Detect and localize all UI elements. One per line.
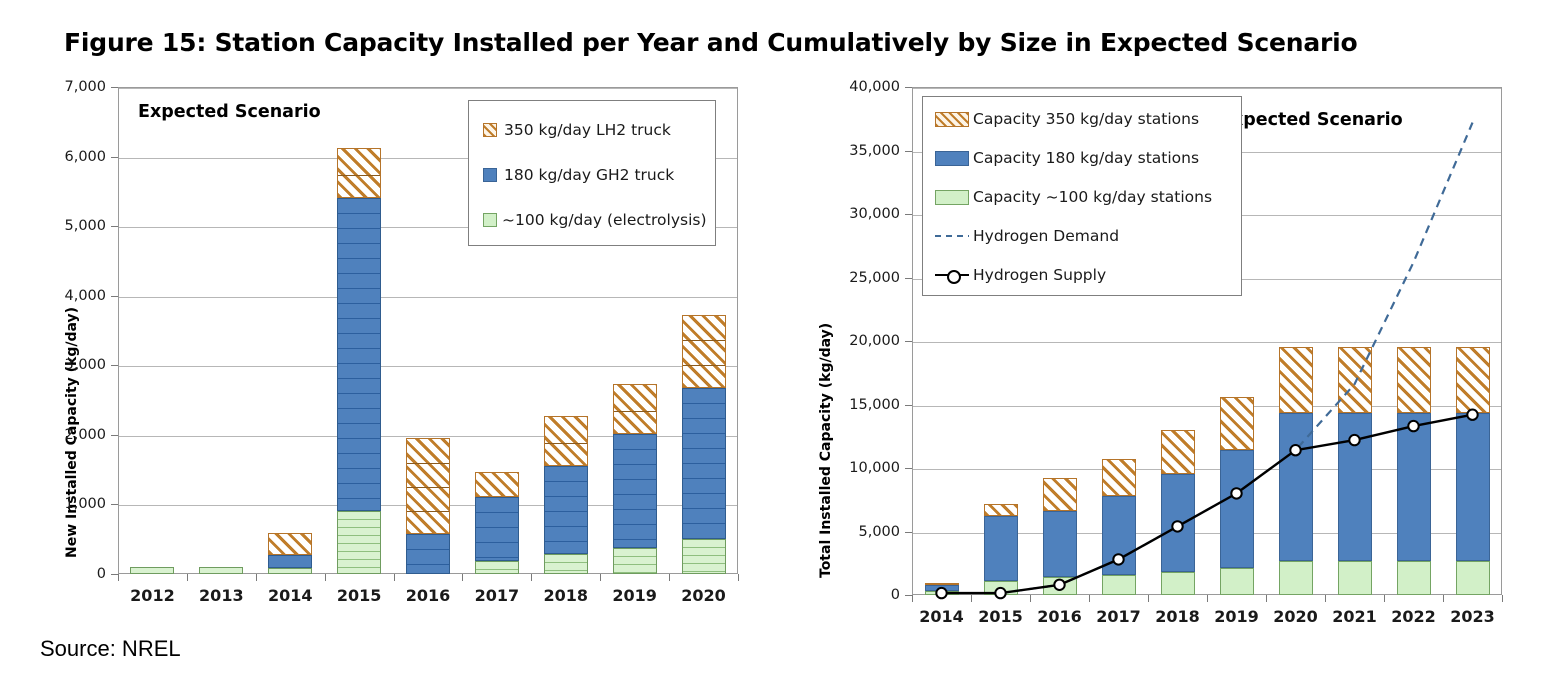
bar-segment — [544, 416, 588, 466]
x-tick-mark — [118, 574, 119, 581]
x-tick-label: 2023 — [1443, 607, 1502, 626]
bar-segment — [1397, 413, 1431, 562]
bar-segment — [1043, 478, 1077, 511]
y-tick-label: 7,000 — [28, 79, 106, 95]
bar-segment — [1338, 561, 1372, 595]
bar-segment — [1456, 561, 1490, 595]
bar-segment — [682, 315, 726, 388]
x-tick-label: 2016 — [1030, 607, 1089, 626]
legend-item-1[interactable]: Capacity 180 kg/day stations — [935, 149, 1199, 167]
x-tick-mark — [256, 574, 257, 581]
bar-segment — [1338, 347, 1372, 412]
y-tick-mark — [905, 278, 912, 279]
y-tick-label: 15,000 — [822, 397, 900, 413]
bar-segment — [406, 438, 450, 535]
bar-segment — [1161, 572, 1195, 595]
x-tick-label: 2015 — [325, 586, 394, 605]
legend-label: 180 kg/day GH2 truck — [504, 166, 674, 184]
legend-label: ~100 kg/day (electrolysis) — [502, 211, 707, 229]
gridline — [119, 297, 737, 298]
legend-item-2[interactable]: ~100 kg/day (electrolysis) — [483, 211, 707, 229]
bar-segment — [268, 568, 312, 574]
y-tick-label: 5,000 — [28, 218, 106, 234]
x-tick-mark — [1443, 595, 1444, 602]
gridline — [119, 366, 737, 367]
y-tick-mark — [111, 504, 118, 505]
x-tick-label: 2019 — [1207, 607, 1266, 626]
y-tick-mark — [905, 532, 912, 533]
legend-label: Capacity ~100 kg/day stations — [973, 188, 1212, 206]
legend-item-2[interactable]: Capacity ~100 kg/day stations — [935, 188, 1212, 206]
x-tick-mark — [1089, 595, 1090, 602]
y-tick-mark — [111, 435, 118, 436]
green-swatch — [483, 213, 497, 227]
y-tick-label: 20,000 — [822, 333, 900, 349]
bar-segment — [475, 561, 519, 574]
bar-segment — [1161, 430, 1195, 474]
y-tick-mark — [905, 595, 912, 596]
x-tick-mark — [971, 595, 972, 602]
legend-label: Hydrogen Demand — [973, 227, 1119, 245]
y-tick-label: 35,000 — [822, 143, 900, 159]
y-tick-label: 2,000 — [28, 427, 106, 443]
right-scenario-label: Expected Scenario — [1220, 110, 1403, 130]
bar-segment — [1338, 413, 1372, 562]
y-tick-label: 1,000 — [28, 496, 106, 512]
source-note: Source: NREL — [40, 636, 181, 662]
y-tick-label: 6,000 — [28, 149, 106, 165]
x-tick-label: 2018 — [531, 586, 600, 605]
x-tick-label: 2014 — [912, 607, 971, 626]
left-chart-panel: New Installed Capacity (kg/day) Expected… — [0, 78, 760, 608]
legend-label: Capacity 350 kg/day stations — [973, 110, 1199, 128]
legend-label: 350 kg/day LH2 truck — [504, 121, 671, 139]
x-tick-mark — [1384, 595, 1385, 602]
x-tick-mark — [325, 574, 326, 581]
bar-segment — [337, 198, 381, 511]
blue-swatch — [483, 168, 497, 182]
y-tick-mark — [905, 468, 912, 469]
bar-segment — [613, 434, 657, 548]
x-tick-label: 2022 — [1384, 607, 1443, 626]
x-tick-mark — [738, 574, 739, 581]
bar-segment — [1102, 459, 1136, 496]
x-tick-label: 2015 — [971, 607, 1030, 626]
x-tick-label: 2020 — [1266, 607, 1325, 626]
x-tick-mark — [187, 574, 188, 581]
bar-segment — [337, 511, 381, 574]
figure-title: Figure 15: Station Capacity Installed pe… — [64, 28, 1484, 57]
left-legend: 350 kg/day LH2 truck 180 kg/day GH2 truc… — [468, 100, 716, 246]
bar-segment — [199, 567, 243, 574]
bar-segment — [613, 548, 657, 574]
x-tick-label: 2017 — [462, 586, 531, 605]
orange-hatch-swatch — [483, 123, 497, 137]
bar-segment — [544, 554, 588, 574]
bar-segment — [1220, 397, 1254, 450]
right-y-axis-title: Total Installed Capacity (kg/day) — [818, 323, 834, 578]
x-tick-mark — [1266, 595, 1267, 602]
bar-segment — [1456, 347, 1490, 412]
right-legend: Capacity 350 kg/day stations Capacity 18… — [922, 96, 1242, 296]
x-tick-mark — [1207, 595, 1208, 602]
bar-segment — [1397, 561, 1431, 595]
bar-segment — [1279, 413, 1313, 562]
x-tick-mark — [1030, 595, 1031, 602]
y-tick-label: 4,000 — [28, 288, 106, 304]
green-swatch — [935, 190, 969, 205]
y-tick-mark — [111, 296, 118, 297]
bar-segment — [1043, 577, 1077, 595]
y-tick-mark — [111, 157, 118, 158]
bar-segment — [1220, 568, 1254, 595]
y-tick-label: 25,000 — [822, 270, 900, 286]
bar-segment — [1161, 474, 1195, 572]
left-scenario-label: Expected Scenario — [138, 102, 321, 122]
x-tick-mark — [1148, 595, 1149, 602]
x-tick-label: 2012 — [118, 586, 187, 605]
y-tick-label: 10,000 — [822, 460, 900, 476]
blue-swatch — [935, 151, 969, 166]
y-tick-mark — [111, 365, 118, 366]
bar-segment — [337, 148, 381, 198]
bar-segment — [1102, 496, 1136, 575]
legend-item-3[interactable]: Hydrogen Demand — [935, 227, 1119, 245]
gridline — [913, 88, 1501, 89]
y-tick-mark — [111, 87, 118, 88]
x-tick-mark — [531, 574, 532, 581]
x-tick-label: 2013 — [187, 586, 256, 605]
x-tick-label: 2020 — [669, 586, 738, 605]
bar-segment — [544, 466, 588, 554]
bar-segment — [268, 533, 312, 555]
y-tick-label: 0 — [28, 566, 106, 582]
x-tick-mark — [912, 595, 913, 602]
x-tick-label: 2019 — [600, 586, 669, 605]
legend-label: Capacity 180 kg/day stations — [973, 149, 1199, 167]
bar-segment — [1279, 561, 1313, 595]
bar-segment — [1397, 347, 1431, 412]
x-tick-label: 2016 — [394, 586, 463, 605]
y-tick-mark — [111, 226, 118, 227]
bar-segment — [984, 581, 1018, 595]
bar-segment — [984, 504, 1018, 516]
bar-segment — [613, 384, 657, 434]
bar-segment — [1043, 511, 1077, 578]
legend-item-4[interactable]: Hydrogen Supply — [935, 266, 1106, 284]
bar-segment — [925, 583, 959, 585]
x-tick-mark — [600, 574, 601, 581]
y-tick-mark — [905, 405, 912, 406]
bar-segment — [1102, 575, 1136, 595]
bar-segment — [682, 539, 726, 574]
y-tick-label: 5,000 — [822, 524, 900, 540]
x-tick-mark — [394, 574, 395, 581]
gridline — [913, 342, 1501, 343]
bar-segment — [268, 555, 312, 568]
legend-item-0[interactable]: 350 kg/day LH2 truck — [483, 121, 671, 139]
bar-segment — [984, 516, 1018, 581]
right-chart-panel: Total Installed Capacity (kg/day) Expect… — [790, 78, 1558, 608]
bar-segment — [925, 585, 959, 591]
bar-segment — [130, 567, 174, 574]
bar-segment — [475, 497, 519, 562]
x-tick-label: 2017 — [1089, 607, 1148, 626]
x-tick-label: 2014 — [256, 586, 325, 605]
x-tick-label: 2021 — [1325, 607, 1384, 626]
bar-segment — [475, 472, 519, 496]
bar-segment — [1220, 450, 1254, 568]
y-tick-label: 3,000 — [28, 357, 106, 373]
y-tick-mark — [905, 341, 912, 342]
legend-item-1[interactable]: 180 kg/day GH2 truck — [483, 166, 674, 184]
dashed-line-swatch — [935, 235, 969, 237]
y-tick-mark — [905, 151, 912, 152]
orange-hatch-swatch — [935, 112, 969, 127]
x-tick-mark — [669, 574, 670, 581]
bar-segment — [1456, 413, 1490, 562]
y-tick-mark — [905, 214, 912, 215]
y-tick-label: 0 — [822, 587, 900, 603]
x-tick-label: 2018 — [1148, 607, 1207, 626]
legend-item-0[interactable]: Capacity 350 kg/day stations — [935, 110, 1199, 128]
y-tick-label: 30,000 — [822, 206, 900, 222]
bar-segment — [682, 388, 726, 539]
y-tick-label: 40,000 — [822, 79, 900, 95]
x-tick-mark — [462, 574, 463, 581]
bar-segment — [1279, 347, 1313, 412]
x-tick-mark — [1502, 595, 1503, 602]
y-tick-mark — [111, 574, 118, 575]
y-tick-mark — [905, 87, 912, 88]
bar-segment — [925, 591, 959, 595]
legend-label: Hydrogen Supply — [973, 266, 1106, 284]
gridline — [119, 88, 737, 89]
x-tick-mark — [1325, 595, 1326, 602]
bar-segment — [406, 534, 450, 574]
